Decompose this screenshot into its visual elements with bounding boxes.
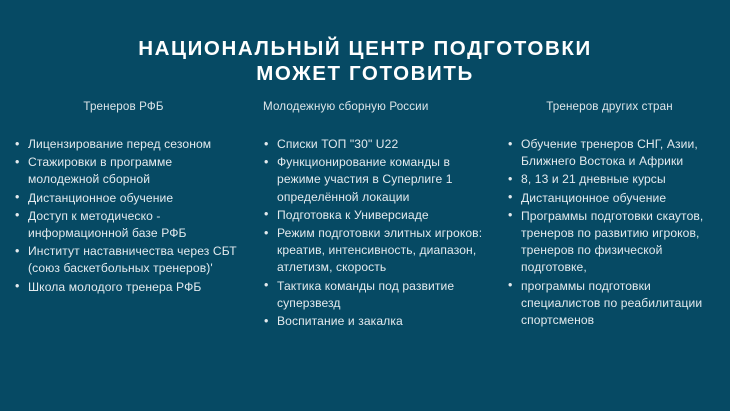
bullet-list: Лицензирование перед сезоном Стажировки … xyxy=(10,136,237,296)
list-item: Подготовка к Универсиаде xyxy=(263,207,487,224)
column-youth-national-team: Молодежную сборную России Списки ТОП "30… xyxy=(245,100,493,331)
list-item: Институт наставничества через СБТ (союз … xyxy=(14,243,237,277)
list-item: Доступ к методическо - информационной ба… xyxy=(14,208,237,242)
column-foreign-coaches: Тренеров других стран Обучение тренеров … xyxy=(493,100,730,330)
columns-container: Тренеров РФБ Лицензирование перед сезоно… xyxy=(0,100,730,331)
column-heading: Молодежную сборную России xyxy=(251,100,487,114)
list-item: Тактика команды под развитие суперзвезд xyxy=(263,278,487,312)
list-item: Дистанционное обучение xyxy=(507,190,722,207)
title-line-2: МОЖЕТ ГОТОВИТЬ xyxy=(0,61,730,86)
list-item: Лицензирование перед сезоном xyxy=(14,136,237,153)
list-item: Обучение тренеров СНГ, Азии, Ближнего Во… xyxy=(507,136,722,170)
title-line-1: НАЦИОНАЛЬНЫЙ ЦЕНТР ПОДГОТОВКИ xyxy=(0,36,730,61)
bullet-list: Списки ТОП "30" U22 Функционирование ком… xyxy=(251,136,487,330)
list-item: Списки ТОП "30" U22 xyxy=(263,136,487,153)
presentation-slide: НАЦИОНАЛЬНЫЙ ЦЕНТР ПОДГОТОВКИ МОЖЕТ ГОТО… xyxy=(0,0,730,411)
list-item: Дистанционное обучение xyxy=(14,190,237,207)
list-item: Режим подготовки элитных игроков: креати… xyxy=(263,225,487,277)
list-item: Функционирование команды в режиме участи… xyxy=(263,154,487,206)
column-heading: Тренеров других стран xyxy=(497,100,722,114)
list-item: Школа молодого тренера РФБ xyxy=(14,279,237,296)
list-item: программы подготовки специалистов по реа… xyxy=(507,278,722,330)
list-item: Воспитание и закалка xyxy=(263,313,487,330)
list-item: Стажировки в программе молодежной сборно… xyxy=(14,154,237,188)
column-heading: Тренеров РФБ xyxy=(10,100,237,114)
list-item: Программы подготовки скаутов, тренеров п… xyxy=(507,208,722,277)
column-coaches-rfb: Тренеров РФБ Лицензирование перед сезоно… xyxy=(0,100,245,297)
bullet-list: Обучение тренеров СНГ, Азии, Ближнего Во… xyxy=(497,136,722,329)
list-item: 8, 13 и 21 дневные курсы xyxy=(507,171,722,188)
slide-title: НАЦИОНАЛЬНЫЙ ЦЕНТР ПОДГОТОВКИ МОЖЕТ ГОТО… xyxy=(0,36,730,86)
